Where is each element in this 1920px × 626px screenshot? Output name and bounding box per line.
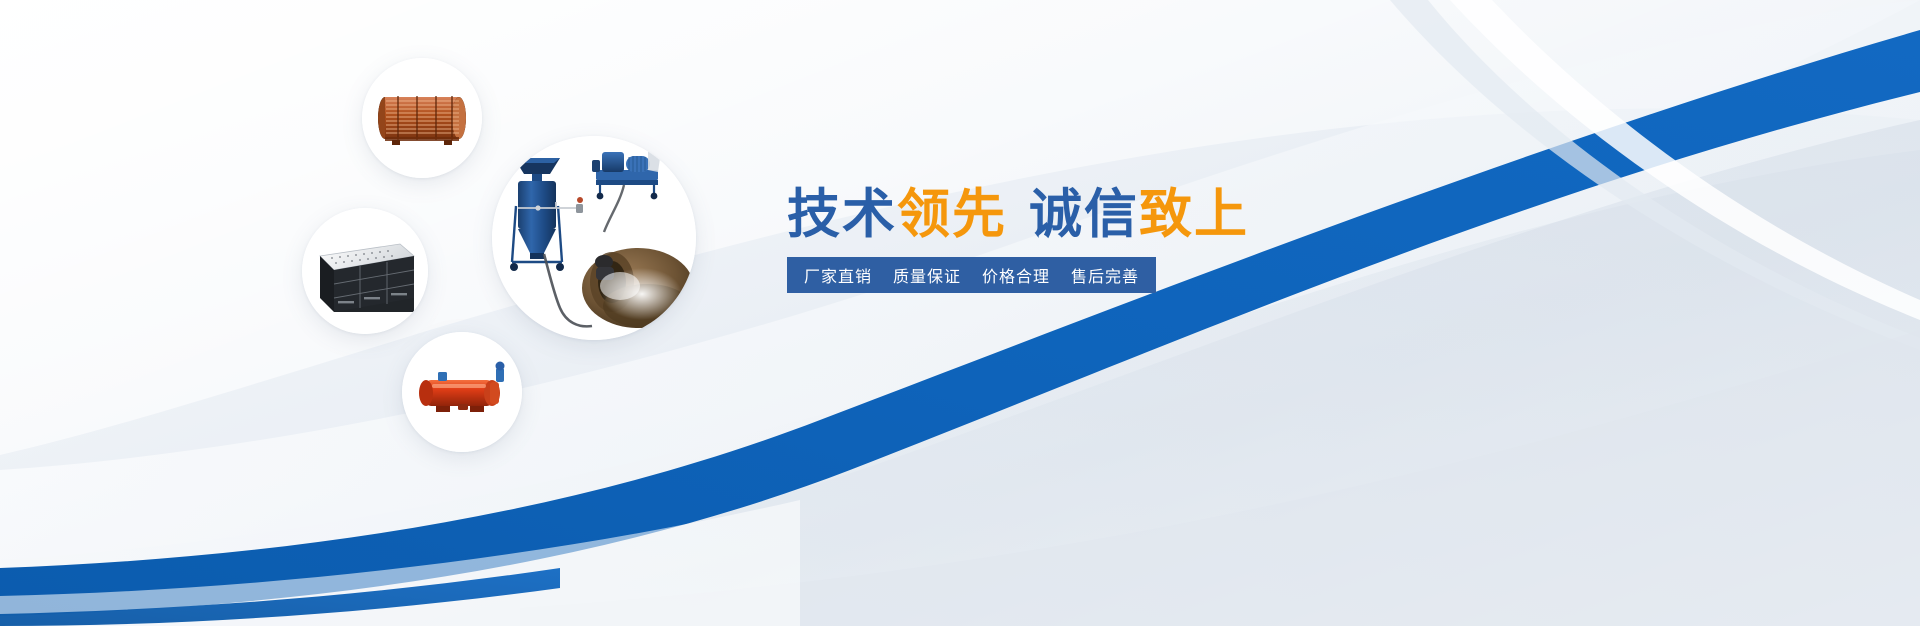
product-circle-sandblasting-unit — [492, 136, 696, 340]
feature-highlight-bar: 厂家直销 质量保证 价格合理 售后完善 — [787, 257, 1156, 293]
promotional-banner: 技术领先诚信致上 厂家直销 质量保证 价格合理 售后完善 — [0, 0, 1920, 626]
headline-segment-2: 领先 — [897, 184, 1007, 245]
tube-bundle-graphic — [378, 96, 466, 145]
product-circle-pressure-vessel — [402, 332, 522, 452]
vessel-cleaning-graphic — [582, 248, 694, 328]
feature-item-4: 售后完善 — [1071, 263, 1139, 287]
page-title: 技术领先诚信致上 — [787, 188, 1249, 241]
background-decoration — [0, 0, 1920, 626]
tube-sheet-graphic — [320, 244, 414, 312]
headline-segment-1: 技术 — [787, 184, 897, 245]
headline-segment-3: 诚信 — [1029, 184, 1139, 245]
feature-item-3: 价格合理 — [982, 263, 1050, 287]
headline-segment-4: 致上 — [1139, 184, 1249, 245]
feature-item-1: 厂家直销 — [804, 263, 872, 287]
product-circle-tube-bundle — [362, 58, 482, 178]
feature-item-2: 质量保证 — [893, 263, 961, 287]
product-circle-tube-sheet — [302, 208, 428, 334]
